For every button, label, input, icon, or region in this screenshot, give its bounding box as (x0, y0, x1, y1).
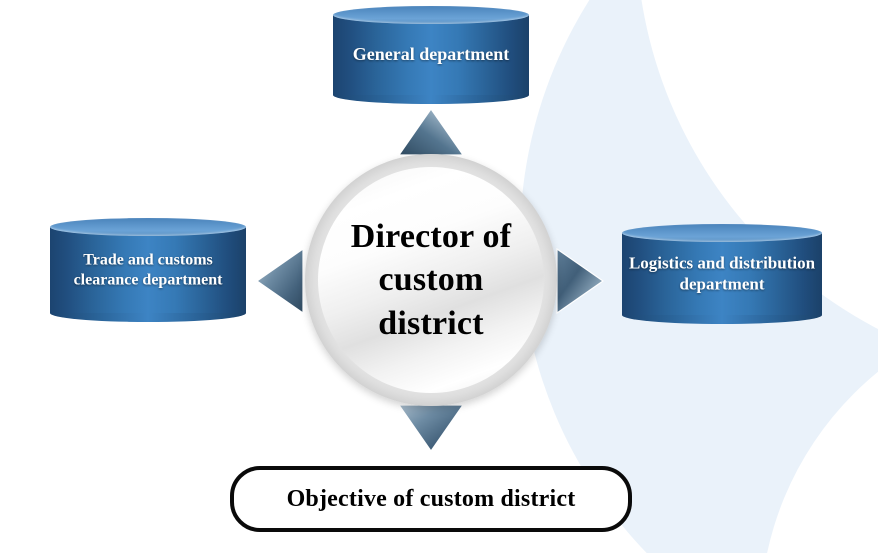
background-white-cut-bottom (760, 300, 878, 553)
arrow-left-icon (256, 248, 304, 314)
arrow-up-icon (398, 108, 464, 156)
diagram-canvas: Director of custom district General depa… (0, 0, 878, 553)
cylinder-top-ellipse (50, 218, 246, 236)
node-objective-of-custom-district[interactable]: Objective of custom district (230, 466, 632, 532)
center-node-director[interactable]: Director of custom district (305, 154, 557, 406)
node-label-objective: Objective of custom district (287, 486, 576, 513)
node-general-department[interactable]: General department (333, 6, 529, 104)
cylinder-top-ellipse (333, 6, 529, 24)
node-label-general: General department (339, 44, 523, 66)
node-logistics-and-distribution-department[interactable]: Logistics and distribution department (622, 224, 822, 324)
node-trade-and-customs-clearance-department[interactable]: Trade and customs clearance department (50, 218, 246, 322)
node-label-logistics: Logistics and distribution department (628, 253, 816, 294)
cylinder-top-ellipse (622, 224, 822, 242)
node-label-trade: Trade and customs clearance department (56, 250, 240, 289)
center-node-label: Director of custom district (326, 215, 536, 346)
arrow-right-icon (556, 248, 604, 314)
arrow-down-icon (398, 404, 464, 452)
